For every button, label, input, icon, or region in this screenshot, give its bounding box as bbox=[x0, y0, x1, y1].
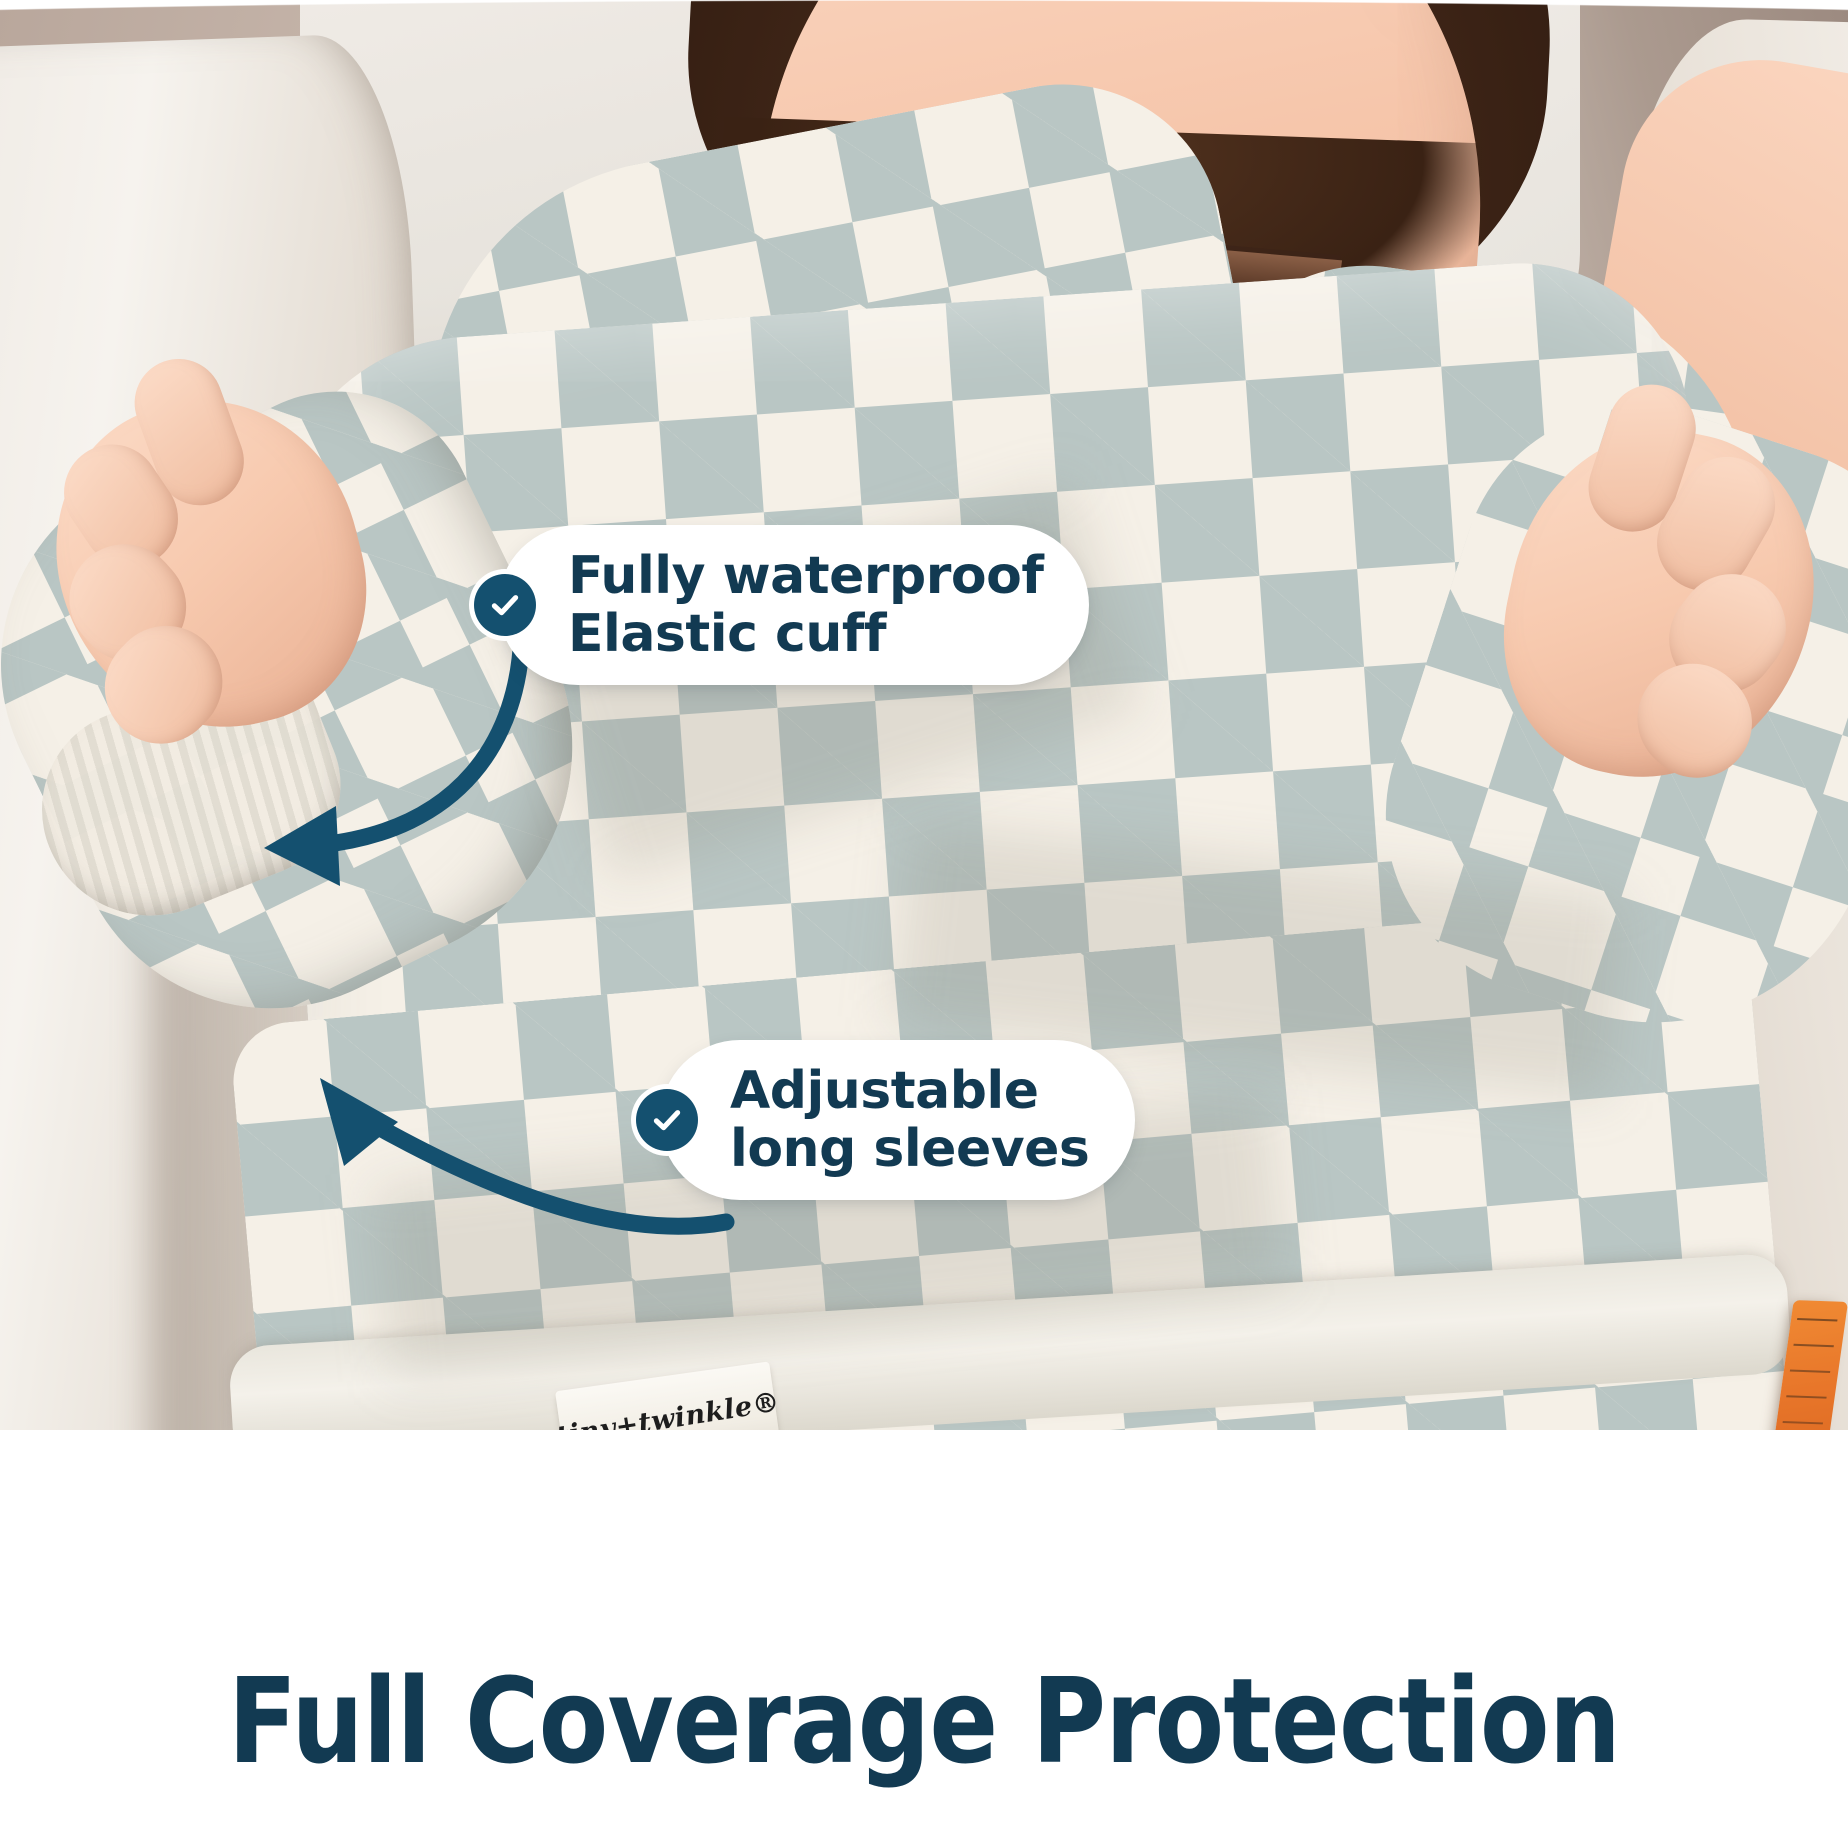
callout-badge-sleeves[interactable]: Adjustable long sleeves bbox=[660, 1040, 1135, 1200]
callout-text-cuff: Fully waterproof Elastic cuff bbox=[568, 547, 1043, 663]
check-circle-icon bbox=[474, 574, 536, 636]
check-circle-icon bbox=[636, 1089, 698, 1151]
callout-badge-cuff[interactable]: Fully waterproof Elastic cuff bbox=[498, 525, 1089, 685]
headline-text: Full Coverage Protection bbox=[129, 1652, 1718, 1790]
brand-label-text: tiny+twinkle® bbox=[554, 1386, 782, 1452]
product-photo: tiny+twinkle® bbox=[0, 0, 1848, 1560]
callout-text-sleeves: Adjustable long sleeves bbox=[730, 1062, 1089, 1178]
